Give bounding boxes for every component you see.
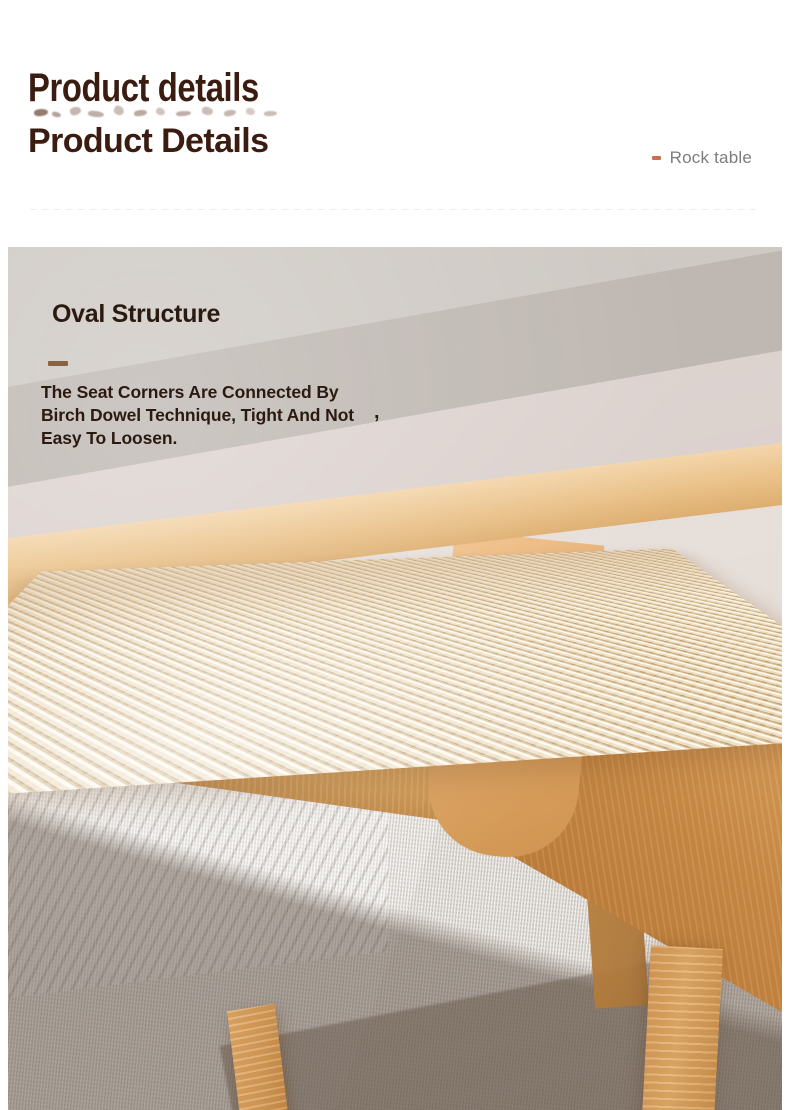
- product-detail-page: Product details Product Details Rock tab…: [0, 0, 790, 1110]
- stray-comma-artifact: ,: [374, 401, 380, 424]
- photo-text-overlay: Oval Structure The Seat Corners Are Conn…: [8, 247, 782, 1110]
- page-title-ghost: Product details: [28, 68, 259, 108]
- header-divider: [30, 209, 756, 210]
- feature-description: The Seat Corners Are Connected By Birch …: [41, 381, 371, 450]
- header-subtitle: Rock table: [652, 148, 752, 168]
- page-title: Product Details: [28, 124, 268, 158]
- feature-heading: Oval Structure: [52, 300, 220, 329]
- page-header: Product details Product Details Rock tab…: [0, 0, 790, 247]
- header-subtitle-label: Rock table: [670, 148, 752, 168]
- dash-marker-icon: [652, 156, 661, 160]
- product-photo: Oval Structure The Seat Corners Are Conn…: [8, 247, 782, 1110]
- feature-accent-rule: [48, 361, 68, 366]
- title-stack: Product details Product Details: [28, 68, 448, 178]
